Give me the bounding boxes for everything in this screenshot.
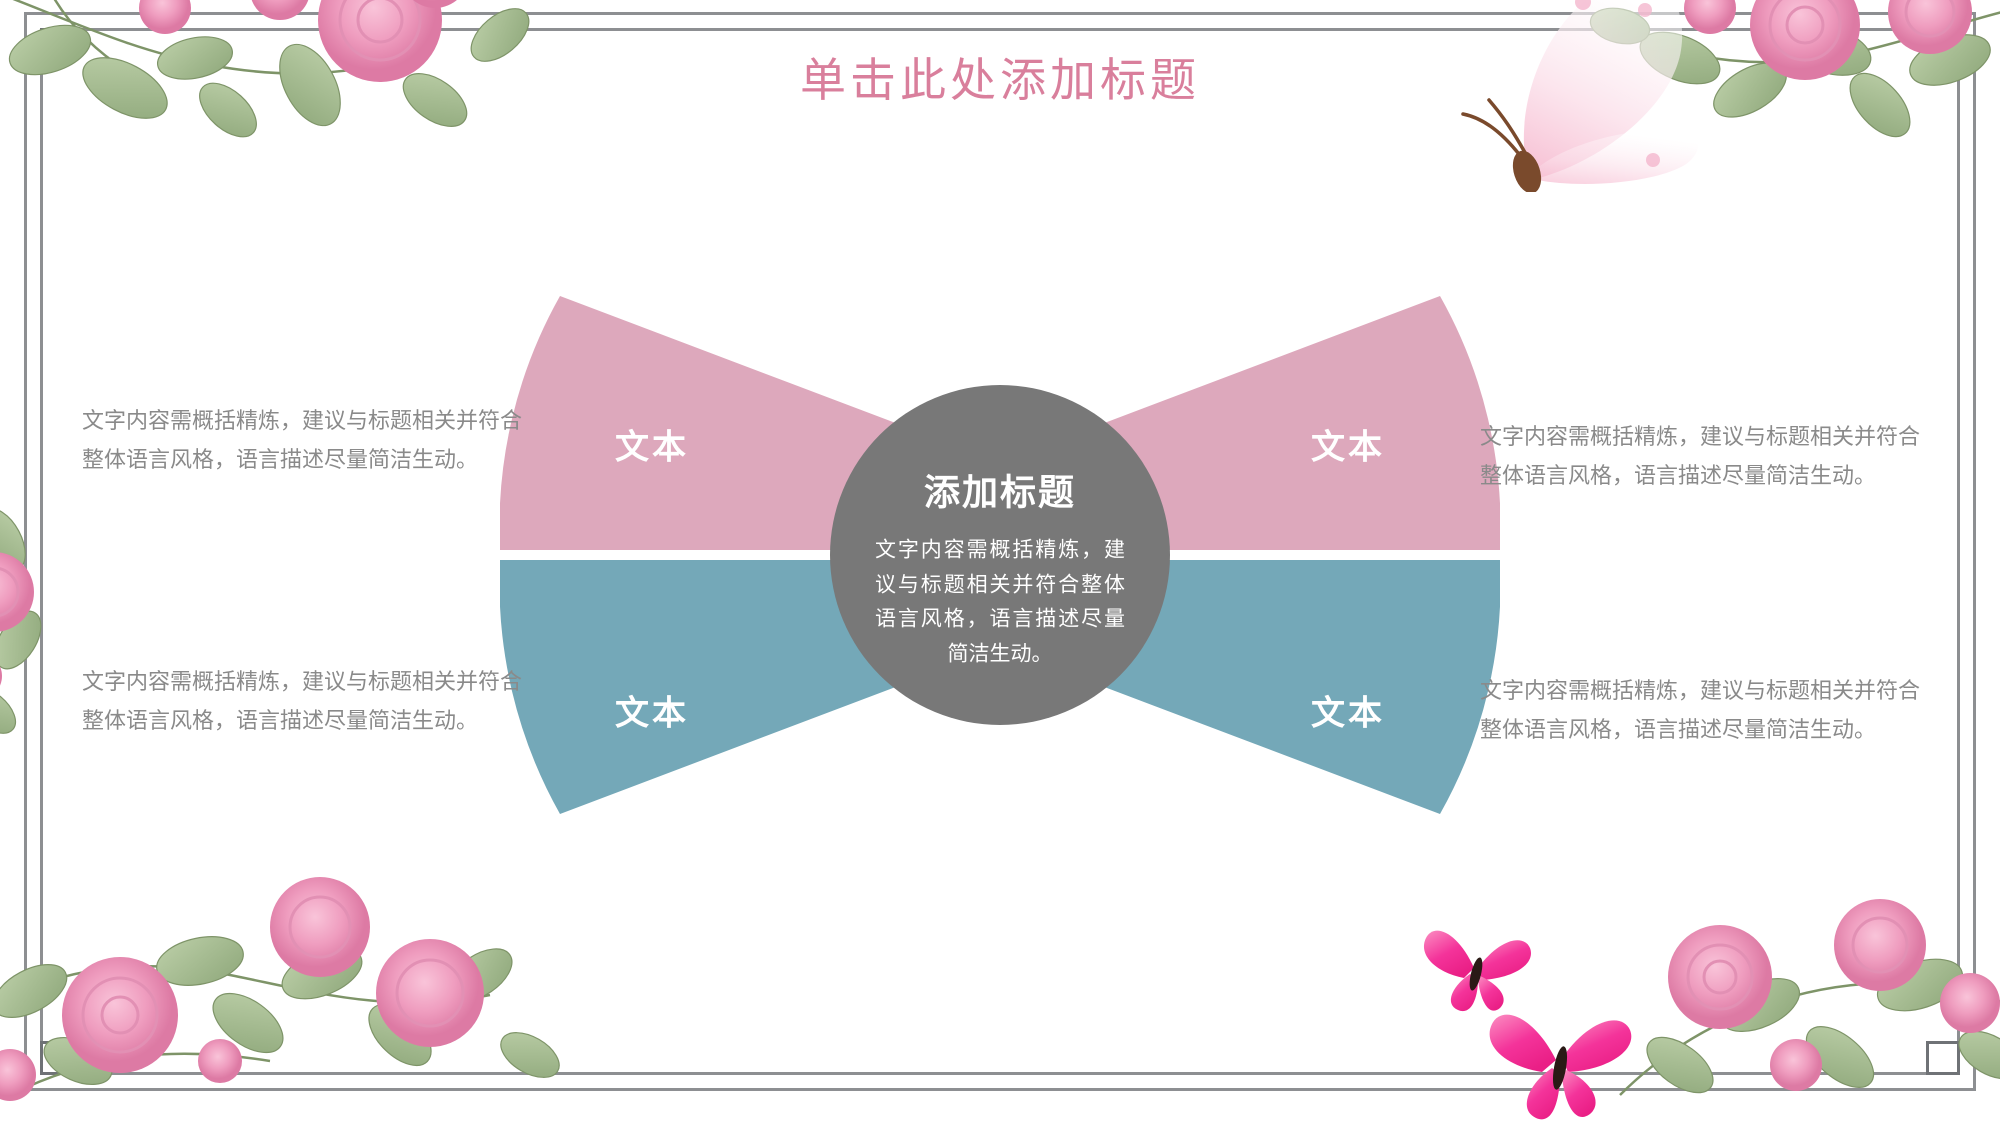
petal-label-bottom-right: 文本 <box>1311 686 1385 735</box>
side-text-bottom-left: 文字内容需概括精炼，建议与标题相关并符合整体语言风格，语言描述尽量简洁生动。 <box>82 663 528 740</box>
page-title: 单击此处添加标题 <box>0 44 2000 110</box>
side-text-top-left: 文字内容需概括精炼，建议与标题相关并符合整体语言风格，语言描述尽量简洁生动。 <box>82 402 528 479</box>
frame-corner-bottom-left <box>40 1041 74 1075</box>
butterfly-pink-small-icon <box>1418 922 1538 1022</box>
side-text-top-right: 文字内容需概括精炼，建议与标题相关并符合整体语言风格，语言描述尽量简洁生动。 <box>1480 418 1926 495</box>
petal-label-top-right: 文本 <box>1311 420 1385 469</box>
hub-circle[interactable] <box>830 385 1170 725</box>
petal-label-top-left: 文本 <box>615 420 689 469</box>
side-text-bottom-right: 文字内容需概括精炼，建议与标题相关并符合整体语言风格，语言描述尽量简洁生动。 <box>1480 672 1926 749</box>
rose-bottom-left-decoration <box>0 865 590 1125</box>
slide-canvas: 单击此处添加标题 文本 文本 文本 文本 添加标题 文字内容需概括精炼，建议与标… <box>0 0 2000 1125</box>
petal-label-bottom-left: 文本 <box>615 686 689 735</box>
frame-corner-bottom-right <box>1926 1041 1960 1075</box>
rose-bottom-right-decoration <box>1600 885 2000 1125</box>
flower-diagram: 文本 文本 文本 文本 添加标题 文字内容需概括精炼，建议与标题相关并符合整体语… <box>500 230 1500 870</box>
diagram-svg <box>500 230 1500 870</box>
butterfly-pink-large-icon <box>1480 1000 1640 1125</box>
